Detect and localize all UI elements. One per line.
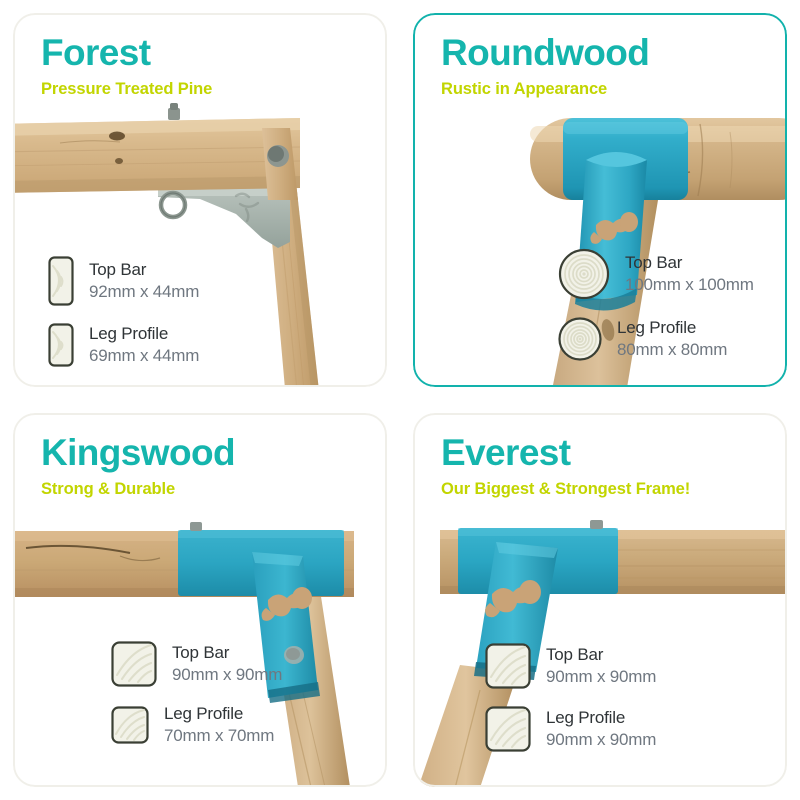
spec-label: Leg Profile: [164, 704, 274, 724]
card-title: Roundwood: [441, 35, 787, 71]
roundwood-spec-list: Top Bar 100mm x 100mm Leg Profile 80m: [558, 248, 754, 361]
spec-dimensions: 100mm x 100mm: [625, 275, 754, 295]
spec-label: Top Bar: [172, 643, 282, 663]
spec-row: Leg Profile 70mm x 70mm: [111, 704, 282, 746]
spec-dimensions: 90mm x 90mm: [546, 730, 656, 750]
frame-card-forest[interactable]: Forest Pressure Treated Pine Top Bar 92m…: [13, 13, 387, 387]
card-subtitle: Rustic in Appearance: [441, 80, 787, 99]
spec-dimensions: 80mm x 80mm: [617, 340, 727, 360]
spec-row: Top Bar 100mm x 100mm: [558, 248, 754, 300]
card-subtitle: Strong & Durable: [41, 480, 387, 499]
kingswood-header: Kingswood Strong & Durable: [13, 413, 387, 499]
spec-label: Top Bar: [89, 260, 199, 280]
timber-profile-icon: [111, 706, 149, 744]
spec-dimensions: 90mm x 90mm: [172, 665, 282, 685]
spec-dimensions: 70mm x 70mm: [164, 726, 274, 746]
spec-label: Top Bar: [546, 645, 656, 665]
timber-profile-icon: [48, 256, 74, 306]
spec-row: Leg Profile 69mm x 44mm: [48, 323, 199, 367]
timber-profile-icon: [485, 706, 531, 752]
spec-dimensions: 92mm x 44mm: [89, 282, 199, 302]
spec-row: Leg Profile 80mm x 80mm: [558, 317, 754, 361]
spec-dimensions: 90mm x 90mm: [546, 667, 656, 687]
everest-spec-list: Top Bar 90mm x 90mm Leg Profile 90m: [485, 643, 656, 752]
timber-profile-icon: [111, 641, 157, 687]
spec-row: Leg Profile 90mm x 90mm: [485, 706, 656, 752]
timber-profile-icon: [48, 323, 74, 367]
everest-header: Everest Our Biggest & Strongest Frame!: [413, 413, 787, 499]
spec-label: Top Bar: [625, 253, 754, 273]
spec-row: Top Bar 90mm x 90mm: [485, 643, 656, 689]
roundwood-header: Roundwood Rustic in Appearance: [413, 13, 787, 99]
card-title: Everest: [441, 435, 787, 471]
frame-card-kingswood[interactable]: Kingswood Strong & Durable Top Bar 90mm …: [13, 413, 387, 787]
spec-dimensions: 69mm x 44mm: [89, 346, 199, 366]
timber-profile-icon: [485, 643, 531, 689]
kingswood-spec-list: Top Bar 90mm x 90mm Leg Profile 70m: [111, 641, 282, 746]
card-title: Kingswood: [41, 435, 387, 471]
card-title: Forest: [41, 35, 387, 71]
forest-header: Forest Pressure Treated Pine: [13, 13, 387, 99]
log-cross-section-icon: [558, 317, 602, 361]
spec-row: Top Bar 90mm x 90mm: [111, 641, 282, 687]
forest-spec-list: Top Bar 92mm x 44mm Leg Profile 69mm x 4…: [48, 256, 199, 367]
card-subtitle: Our Biggest & Strongest Frame!: [441, 480, 787, 499]
card-subtitle: Pressure Treated Pine: [41, 80, 387, 99]
spec-row: Top Bar 92mm x 44mm: [48, 256, 199, 306]
spec-label: Leg Profile: [89, 324, 199, 344]
log-cross-section-icon: [558, 248, 610, 300]
spec-label: Leg Profile: [617, 318, 727, 338]
spec-label: Leg Profile: [546, 708, 656, 728]
frame-card-everest[interactable]: Everest Our Biggest & Strongest Frame! T…: [413, 413, 787, 787]
frame-comparison-grid: Forest Pressure Treated Pine Top Bar 92m…: [0, 0, 800, 800]
frame-card-roundwood[interactable]: Roundwood Rustic in Appearance Top Bar 1…: [413, 13, 787, 387]
